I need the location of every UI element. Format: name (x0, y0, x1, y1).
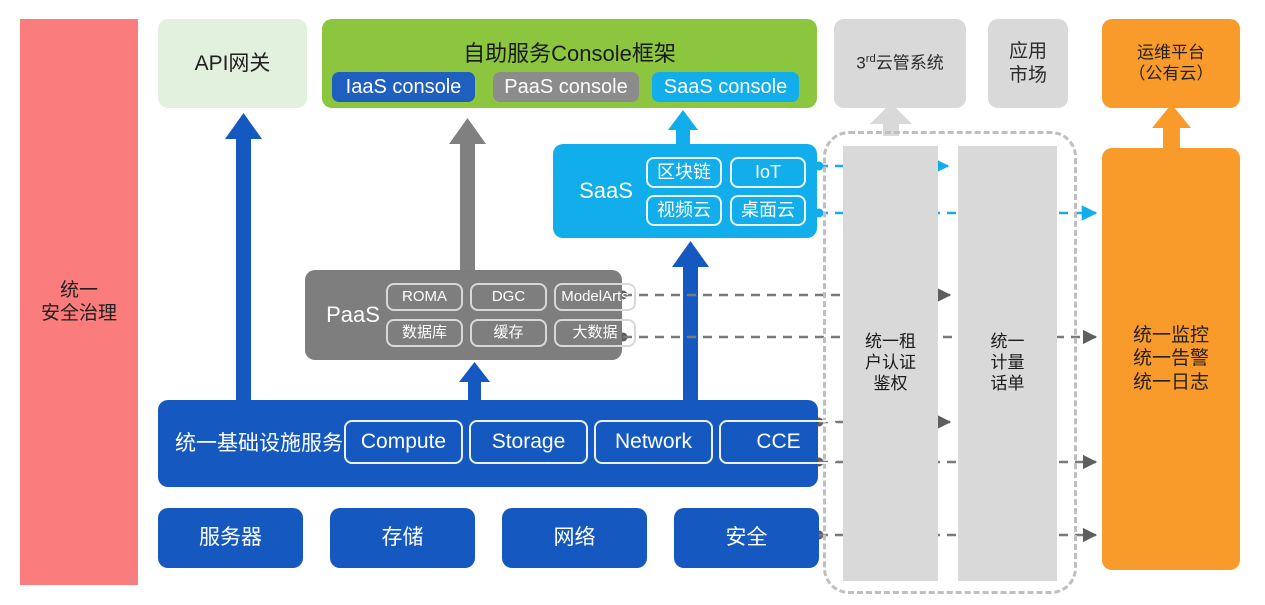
paas-service-roma[interactable]: ROMA (386, 283, 463, 311)
saas-layer-panel: SaaS 区块链 IoT 视频云 桌面云 (553, 144, 817, 238)
saas-service-blockchain[interactable]: 区块链 (646, 157, 722, 188)
paas-layer-panel: PaaS ROMA DGC ModelArts 数据库 缓存 大数据 (305, 270, 622, 360)
chip-saas-console[interactable]: SaaS console (652, 72, 799, 102)
saas-service-iot[interactable]: IoT (730, 157, 806, 188)
saas-service-video-cloud[interactable]: 视频云 (646, 195, 722, 226)
arrow-paas-to-console (449, 118, 486, 272)
paas-service-database[interactable]: 数据库 (386, 319, 463, 347)
unified-tenant-auth-column[interactable]: 统一租 户认证 鉴权 (843, 146, 938, 581)
self-service-console-frame: 自助服务Console框架 IaaS console PaaS console … (322, 19, 817, 108)
arrow-monitoring-to-ops (1152, 104, 1191, 148)
chip-iaas-console[interactable]: IaaS console (332, 72, 475, 102)
infra-layer-label: 统一基础设施服务 (170, 400, 348, 487)
resource-card-storage[interactable]: 存储 (330, 508, 475, 568)
paas-service-dgc[interactable]: DGC (470, 283, 547, 311)
chip-paas-console[interactable]: PaaS console (493, 72, 639, 102)
saas-layer-label: SaaS (563, 144, 649, 238)
resource-card-network[interactable]: 网络 (502, 508, 647, 568)
unified-monitoring-column[interactable]: 统一监控 统一告警 统一日志 (1102, 148, 1240, 570)
third-party-label: 3rd云管系统 (856, 53, 943, 74)
unified-security-panel[interactable]: 统一 安全治理 (20, 19, 138, 585)
arrow-saas-to-console (668, 110, 698, 146)
app-market-box[interactable]: 应用 市场 (988, 19, 1068, 108)
resource-card-security[interactable]: 安全 (674, 508, 819, 568)
arrow-infra-to-apigw (225, 113, 262, 403)
third-party-cloud-mgmt-box[interactable]: 3rd云管系统 (834, 19, 966, 108)
paas-service-modelarts[interactable]: ModelArts (554, 283, 636, 311)
arrow-infra-to-paas (459, 362, 490, 402)
arrow-infra-to-saas (672, 241, 709, 403)
architecture-diagram: 统一 安全治理 API网关 自助服务Console框架 IaaS console… (0, 0, 1265, 605)
unified-metering-billing-column[interactable]: 统一 计量 话单 (958, 146, 1057, 581)
paas-service-cache[interactable]: 缓存 (470, 319, 547, 347)
paas-layer-label: PaaS (313, 270, 393, 360)
unified-infrastructure-panel: 统一基础设施服务 Compute Storage Network CCE (158, 400, 818, 487)
infra-service-compute[interactable]: Compute (344, 420, 463, 464)
console-frame-title: 自助服务Console框架 (322, 41, 817, 68)
saas-service-desktop-cloud[interactable]: 桌面云 (730, 195, 806, 226)
ops-platform-box[interactable]: 运维平台 （公有云） (1102, 19, 1240, 108)
infra-service-cce[interactable]: CCE (719, 420, 838, 464)
resource-card-server[interactable]: 服务器 (158, 508, 303, 568)
infra-service-storage[interactable]: Storage (469, 420, 588, 464)
api-gateway-box[interactable]: API网关 (158, 19, 307, 108)
paas-service-bigdata[interactable]: 大数据 (554, 319, 636, 347)
infra-service-network[interactable]: Network (594, 420, 713, 464)
